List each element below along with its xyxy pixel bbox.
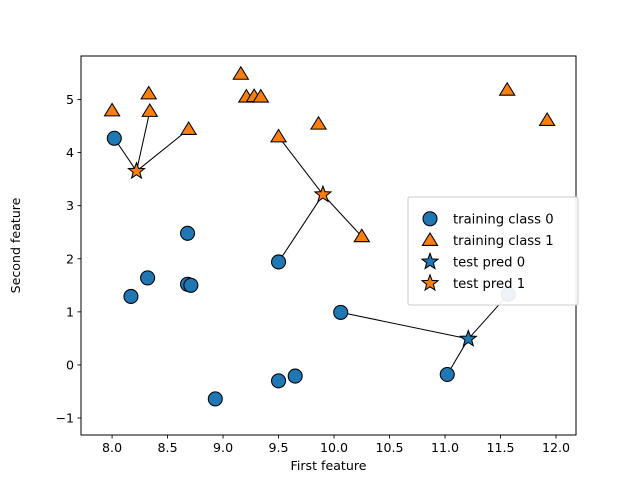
legend-label: training class 1: [453, 234, 554, 249]
y-tick-label: 3: [66, 198, 74, 213]
y-tick-label: 2: [66, 251, 74, 266]
data-point-star: [315, 186, 331, 201]
x-tick-label: 9.0: [213, 440, 233, 455]
data-point-circle: [124, 289, 138, 303]
data-point-triangle: [540, 113, 555, 125]
data-point-circle: [440, 367, 454, 381]
y-tick-label: 1: [66, 304, 74, 319]
data-point-triangle: [141, 86, 156, 98]
data-point-circle: [272, 374, 286, 388]
x-axis-label: First feature: [291, 458, 367, 473]
data-point-circle: [288, 369, 302, 383]
figure-canvas: 8.08.59.09.510.010.511.011.512.0−1012345…: [0, 0, 640, 480]
data-point-circle: [141, 271, 155, 285]
data-point-circle: [272, 255, 286, 269]
data-point-triangle: [311, 117, 326, 129]
data-point-triangle: [271, 129, 286, 141]
neighbor-link: [279, 137, 323, 195]
x-tick-label: 10.5: [376, 440, 404, 455]
neighbor-link: [341, 312, 469, 339]
legend-label: training class 0: [453, 212, 554, 227]
y-tick-label: 5: [66, 92, 74, 107]
y-tick-label: 0: [66, 357, 74, 372]
y-tick-label: 4: [66, 145, 74, 160]
y-tick-label: −1: [55, 411, 74, 426]
x-tick-label: 8.5: [158, 440, 178, 455]
y-axis-label: Second feature: [8, 197, 23, 293]
data-point-triangle: [142, 104, 157, 116]
data-point-circle: [181, 226, 195, 240]
legend-label: test pred 0: [453, 255, 525, 270]
x-tick-label: 9.5: [269, 440, 289, 455]
data-point-circle: [334, 305, 348, 319]
x-tick-label: 8.0: [102, 440, 122, 455]
data-point-triangle: [104, 103, 119, 115]
legend-marker-circle: [423, 212, 437, 226]
x-tick-label: 11.0: [431, 440, 459, 455]
data-point-circle: [184, 278, 198, 292]
neighbor-link: [279, 195, 323, 262]
data-point-triangle: [181, 122, 196, 134]
legend-label: test pred 1: [453, 277, 525, 292]
x-tick-label: 12.0: [542, 440, 570, 455]
data-point-star: [129, 163, 145, 178]
x-tick-label: 11.5: [487, 440, 515, 455]
legend[interactable]: training class 0training class 1test pre…: [408, 197, 578, 305]
data-point-circle: [208, 392, 222, 406]
scatter-plot: 8.08.59.09.510.010.511.011.512.0−1012345…: [0, 0, 640, 480]
x-tick-label: 10.0: [320, 440, 348, 455]
data-point-triangle: [233, 67, 248, 79]
data-point-triangle: [500, 83, 515, 95]
data-point-circle: [107, 131, 121, 145]
neighbor-link: [323, 195, 362, 237]
